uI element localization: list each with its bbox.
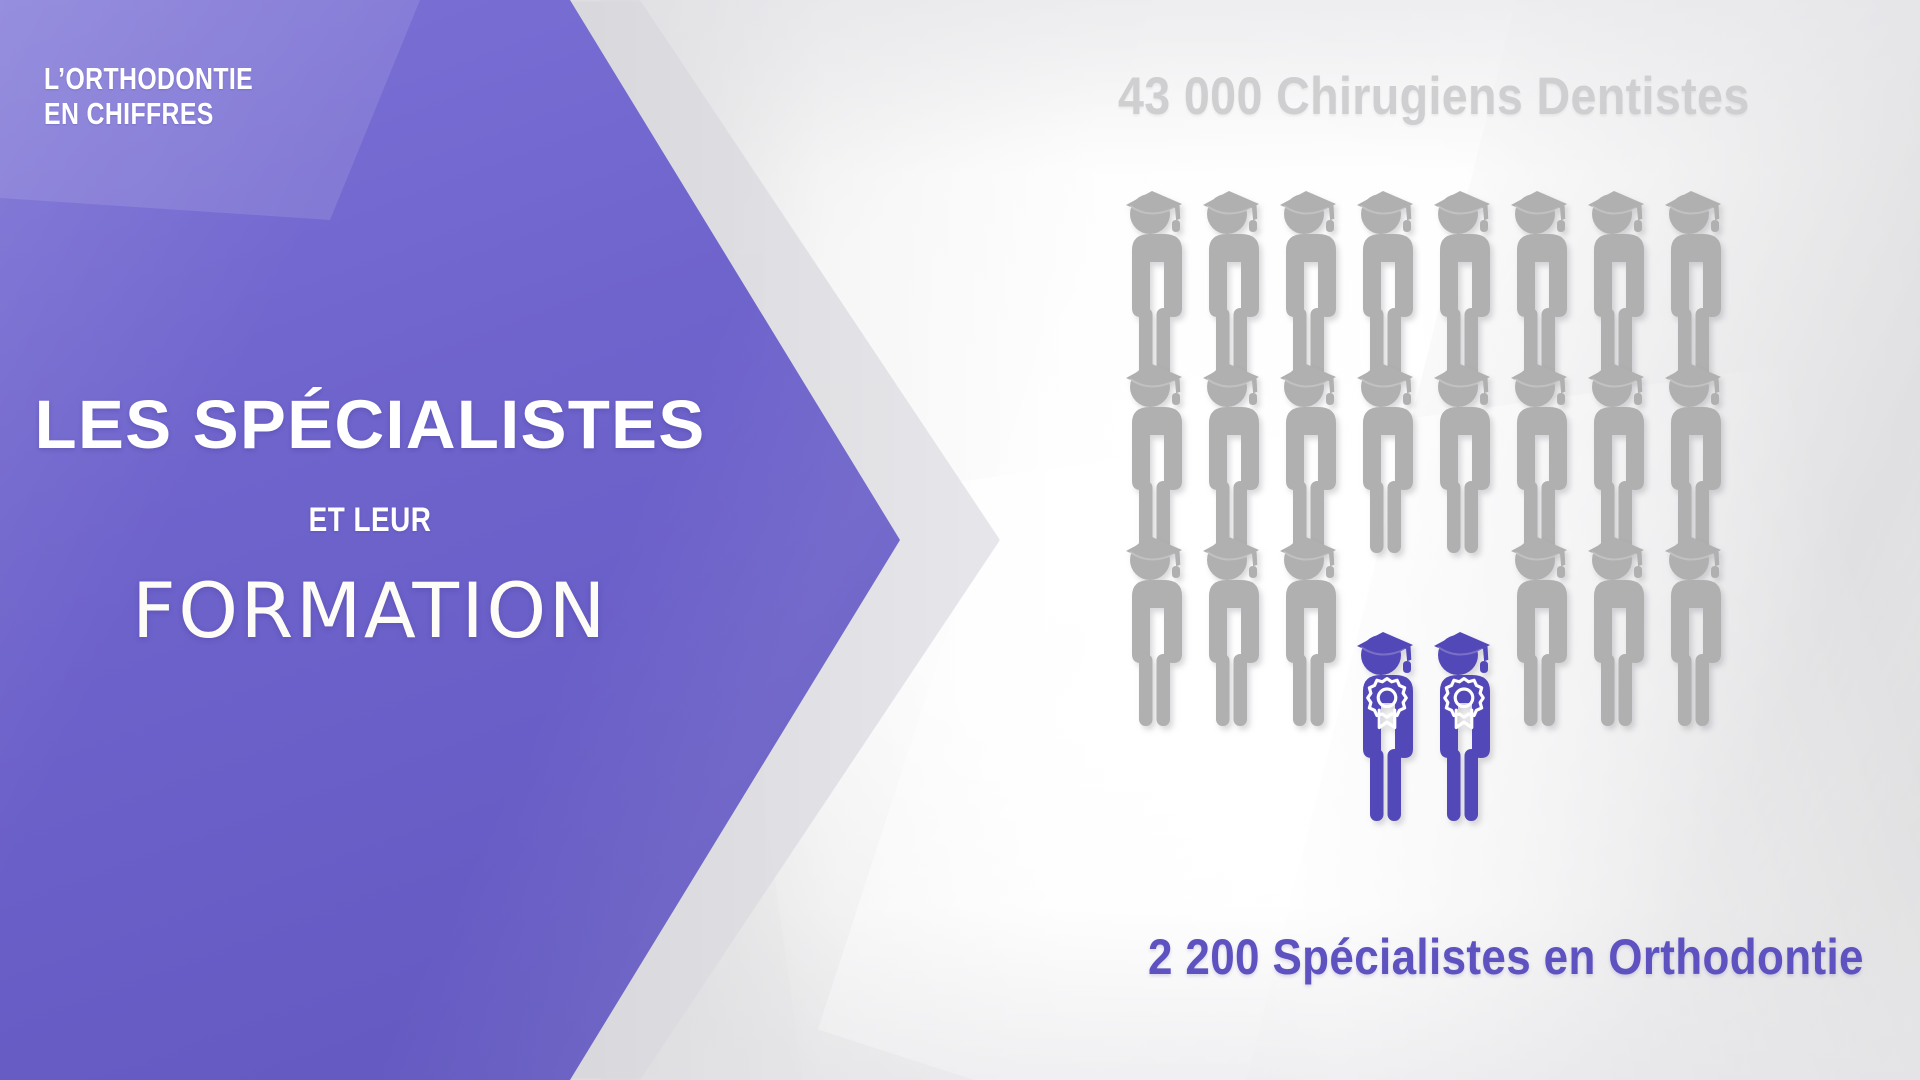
- person-graduate-icon: [1505, 353, 1579, 553]
- person-graduate-icon: [1505, 180, 1579, 380]
- person-graduate-medal-icon: [1428, 621, 1502, 821]
- caption-specialists: 2 200 Spécialistes en Orthodontie: [1148, 928, 1864, 986]
- page-title: LES SPÉCIALISTES ET LEUR FORMATION: [0, 390, 740, 655]
- title-line-specialistes: LES SPÉCIALISTES: [0, 390, 740, 459]
- person-graduate-icon: [1197, 180, 1271, 380]
- person-graduate-icon: [1197, 526, 1271, 726]
- person-graduate-medal-icon: [1351, 621, 1425, 821]
- person-graduate-icon: [1197, 353, 1271, 553]
- person-graduate-icon: [1120, 526, 1194, 726]
- person-graduate-icon: [1582, 353, 1656, 553]
- person-graduate-icon: [1659, 353, 1733, 553]
- person-graduate-icon: [1659, 526, 1733, 726]
- eyebrow-line-2: EN CHIFFRES: [44, 97, 388, 132]
- person-graduate-icon: [1428, 353, 1502, 553]
- title-line-et-leur: ET LEUR: [67, 501, 674, 540]
- pictogram-grid: [1120, 180, 1780, 900]
- person-graduate-icon: [1505, 526, 1579, 726]
- person-graduate-icon: [1120, 353, 1194, 553]
- person-graduate-icon: [1274, 353, 1348, 553]
- person-graduate-icon: [1659, 180, 1733, 380]
- infographic-canvas: L’ORTHODONTIE EN CHIFFRES LES SPÉCIALIST…: [0, 0, 1920, 1080]
- person-graduate-icon: [1274, 526, 1348, 726]
- person-graduate-icon: [1582, 526, 1656, 726]
- person-graduate-icon: [1428, 180, 1502, 380]
- person-graduate-icon: [1351, 353, 1425, 553]
- eyebrow-line-1: L’ORTHODONTIE: [44, 61, 253, 96]
- person-graduate-icon: [1582, 180, 1656, 380]
- title-line-formation: FORMATION: [0, 566, 740, 655]
- person-graduate-icon: [1120, 180, 1194, 380]
- person-graduate-icon: [1274, 180, 1348, 380]
- eyebrow-heading: L’ORTHODONTIE EN CHIFFRES: [44, 62, 388, 131]
- caption-total-dentists: 43 000 Chirugiens Dentistes: [1118, 66, 1750, 127]
- person-graduate-icon: [1351, 180, 1425, 380]
